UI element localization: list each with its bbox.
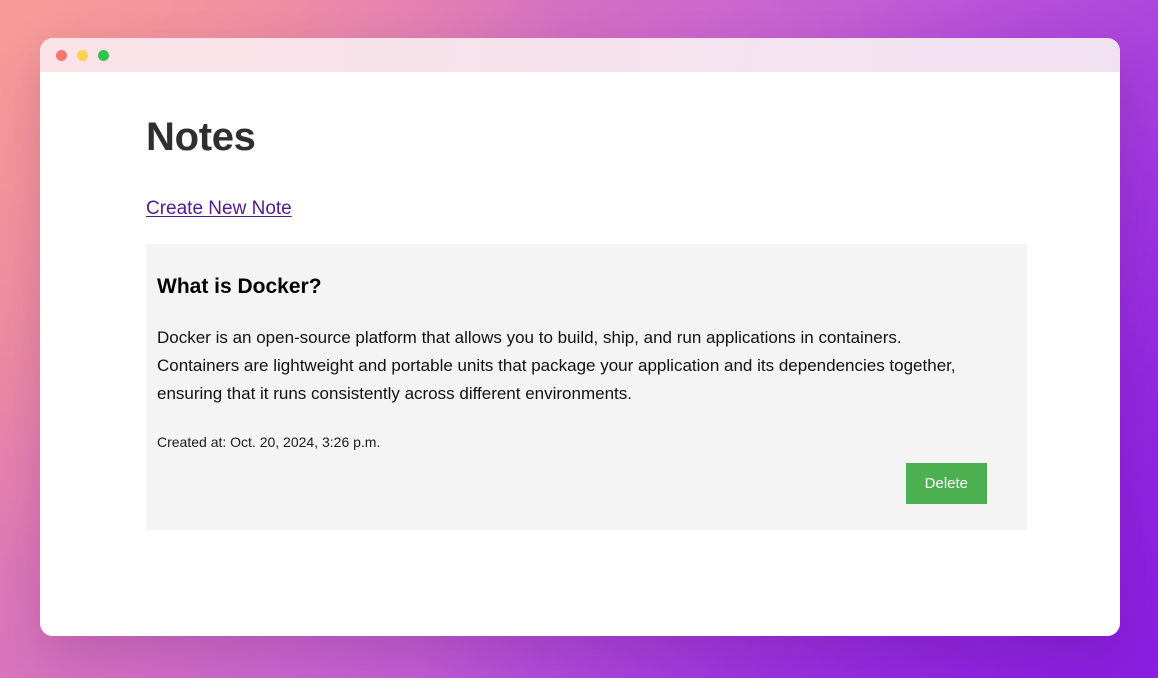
maximize-window-icon[interactable] bbox=[98, 50, 109, 61]
note-title: What is Docker? bbox=[157, 274, 987, 299]
note-actions: Delete bbox=[157, 463, 987, 504]
page-title: Notes bbox=[146, 116, 1068, 158]
note-body: Docker is an open-source platform that a… bbox=[157, 324, 987, 408]
close-window-icon[interactable] bbox=[56, 50, 67, 61]
browser-window: Notes Create New Note What is Docker? Do… bbox=[40, 38, 1120, 636]
notes-page: Notes Create New Note What is Docker? Do… bbox=[40, 72, 1120, 530]
minimize-window-icon[interactable] bbox=[77, 50, 88, 61]
delete-note-button[interactable]: Delete bbox=[906, 463, 987, 504]
page-viewport: Notes Create New Note What is Docker? Do… bbox=[40, 72, 1120, 636]
note-card: What is Docker? Docker is an open-source… bbox=[146, 244, 1027, 530]
window-titlebar bbox=[40, 38, 1120, 72]
note-created-at: Created at: Oct. 20, 2024, 3:26 p.m. bbox=[157, 434, 987, 450]
note-card-content: What is Docker? Docker is an open-source… bbox=[157, 274, 987, 504]
create-new-note-link[interactable]: Create New Note bbox=[146, 198, 292, 220]
